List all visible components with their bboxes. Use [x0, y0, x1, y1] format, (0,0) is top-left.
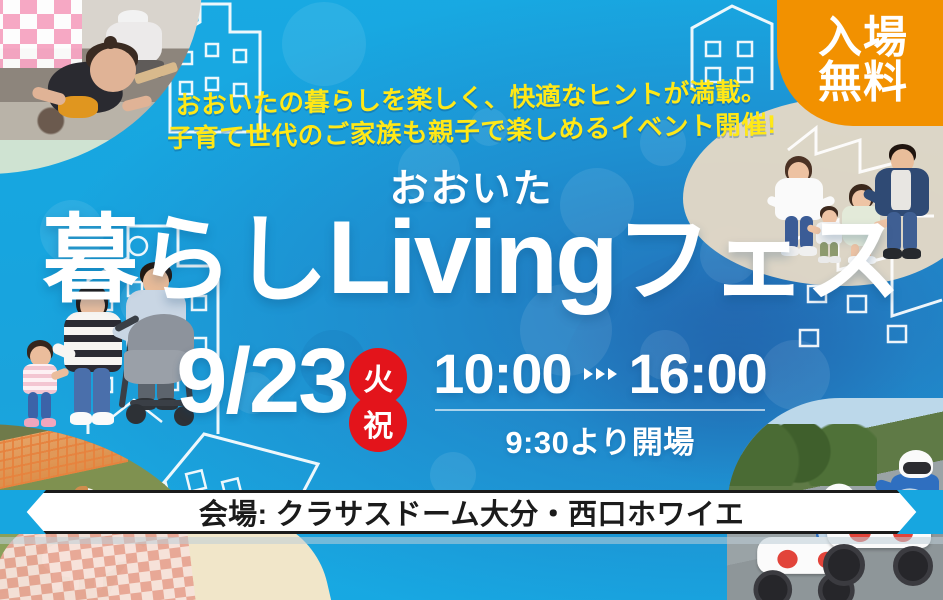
event-poster: おおいたの暮らしを楽しく、快適なヒントが満載。 子育て世代のご家族も親子で楽しめ… [0, 0, 943, 600]
title-main-pre: 暮らし [42, 207, 327, 314]
free-admission-badge: 入場 無料 [777, 0, 943, 126]
page-title: おおいた 暮らしLivingフェス [0, 170, 943, 311]
free-admission-line-2: 無料 [818, 61, 908, 106]
status-badge-holiday: 祝 [349, 394, 407, 452]
time-block: 10:00 16:00 9:30より開場 [433, 346, 766, 462]
event-hours: 10:00 16:00 [433, 346, 766, 402]
date-time-block: 9/23 火 祝 10:00 16:00 9:30より開場 [0, 340, 943, 458]
venue-name: クラサスドーム大分・西口ホワイエ [276, 499, 745, 531]
event-date: 9/23 [176, 336, 347, 426]
time-start: 10:00 [433, 346, 571, 402]
free-admission-line-1: 入場 [818, 16, 908, 61]
venue-bar: 会場:クラサスドーム大分・西口ホワイエ [0, 490, 943, 534]
arrow-right-triple-icon [584, 368, 617, 380]
title-main-post: フェス [616, 207, 901, 314]
venue-label: 会場: [199, 499, 268, 531]
time-end: 16:00 [629, 346, 767, 402]
venue-info: 会場:クラサスドーム大分・西口ホワイエ [199, 491, 745, 533]
title-main-english: Living [327, 200, 615, 316]
divider [435, 409, 764, 411]
title-main: 暮らしLivingフェス [0, 205, 943, 311]
open-time-note: 9:30より開場 [433, 417, 766, 462]
date-badges: 火 祝 [349, 348, 411, 456]
venue-bar-shadow [0, 537, 943, 544]
